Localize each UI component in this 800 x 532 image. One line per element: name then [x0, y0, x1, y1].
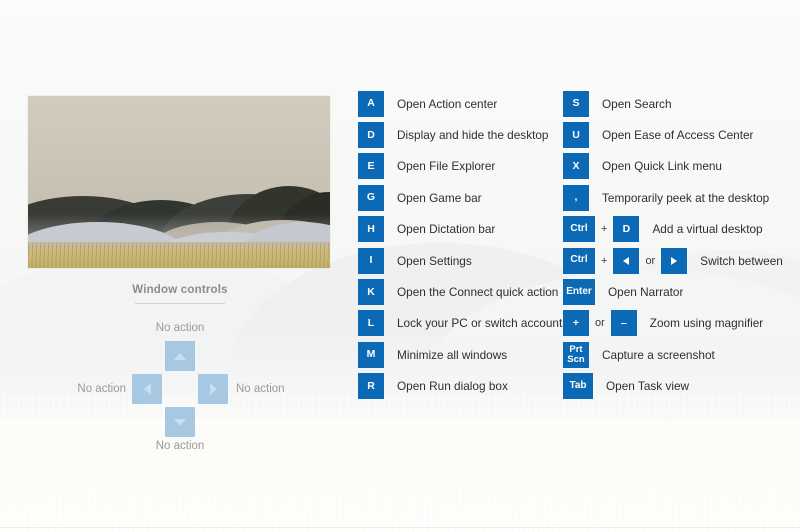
window-controls-panel: Window controls No action No action No a…	[80, 284, 280, 437]
shortcut-description: Open Task view	[606, 379, 689, 393]
shortcut-description: Add a virtual desktop	[652, 222, 762, 236]
shortcut-row: HOpen Dictation bar	[358, 214, 563, 245]
hero-golden-grass	[28, 242, 330, 268]
key-cap-line: Scn	[567, 355, 584, 365]
key-cap[interactable]: H	[358, 216, 384, 242]
shortcut-description: Open Search	[602, 97, 672, 111]
arrow-down-label: No action	[156, 440, 205, 452]
shortcut-description: Open Run dialog box	[397, 379, 508, 393]
arrow-right-key[interactable]	[198, 374, 228, 404]
key-arrow-right-icon[interactable]	[661, 248, 687, 274]
key-cap[interactable]: Enter	[563, 279, 595, 305]
arrow-left-label: No action	[77, 383, 126, 395]
key-cap[interactable]: A	[358, 91, 384, 117]
key-cap[interactable]: Tab	[563, 373, 593, 399]
shortcut-row: GOpen Game bar	[358, 182, 563, 213]
key-cap[interactable]: –	[611, 310, 637, 336]
shortcut-description: Open Game bar	[397, 191, 482, 205]
key-cap[interactable]: ,	[563, 185, 589, 211]
hero-landscape-image	[28, 96, 330, 268]
shortcut-row: EOpen File Explorer	[358, 151, 563, 182]
window-controls-title: Window controls	[80, 284, 280, 296]
key-cap[interactable]: +	[563, 310, 589, 336]
key-cap[interactable]: PrtScn	[563, 342, 589, 368]
arrow-left-key[interactable]	[132, 374, 162, 404]
key-separator-or: or	[645, 255, 655, 267]
key-cap[interactable]: D	[613, 216, 639, 242]
key-cap[interactable]: R	[358, 373, 384, 399]
shortcut-description: Open Narrator	[608, 285, 683, 299]
shortcut-description: Zoom using magnifier	[650, 316, 763, 330]
key-cap[interactable]: S	[563, 91, 589, 117]
shortcut-row: PrtScnCapture a screenshot	[563, 339, 800, 370]
shortcut-row: EnterOpen Narrator	[563, 276, 800, 307]
shortcut-description: Open Settings	[397, 254, 472, 268]
shortcut-description: Open Quick Link menu	[602, 159, 722, 173]
shortcut-description: Open File Explorer	[397, 159, 495, 173]
key-cap[interactable]: I	[358, 248, 384, 274]
key-arrow-left-icon[interactable]	[613, 248, 639, 274]
key-separator-or: or	[595, 317, 605, 329]
shortcut-row: Ctrl+orSwitch between	[563, 245, 800, 276]
window-controls-divider	[135, 303, 225, 304]
shortcut-row: IOpen Settings	[358, 245, 563, 276]
shortcut-row: KOpen the Connect quick action	[358, 276, 563, 307]
shortcut-description: Temporarily peek at the desktop	[602, 191, 769, 205]
arrow-left-icon	[623, 257, 629, 265]
arrow-key-cluster: No action No action No action No action	[80, 309, 280, 437]
shortcut-description: Lock your PC or switch accounts	[397, 316, 563, 330]
shortcut-row: XOpen Quick Link menu	[563, 151, 800, 182]
key-cap[interactable]: Ctrl	[563, 248, 595, 274]
shortcut-row: +or–Zoom using magnifier	[563, 308, 800, 339]
shortcut-row: ,Temporarily peek at the desktop	[563, 182, 800, 213]
shortcut-list-right: SOpen SearchUOpen Ease of Access CenterX…	[563, 88, 800, 402]
shortcut-description: Open the Connect quick action	[397, 285, 558, 299]
key-cap[interactable]: G	[358, 185, 384, 211]
shortcut-description: Display and hide the desktop	[397, 128, 549, 142]
shortcut-row: DDisplay and hide the desktop	[358, 119, 563, 150]
arrow-left-icon	[144, 383, 151, 395]
key-separator-plus: +	[601, 223, 607, 235]
arrow-down-icon	[174, 419, 186, 426]
shortcuts-overlay: Window controls No action No action No a…	[0, 0, 800, 532]
shortcut-row: TabOpen Task view	[563, 371, 800, 402]
key-cap[interactable]: L	[358, 310, 384, 336]
key-separator-plus: +	[601, 255, 607, 267]
shortcut-description: Capture a screenshot	[602, 348, 715, 362]
shortcut-row: SOpen Search	[563, 88, 800, 119]
arrow-right-icon	[210, 383, 217, 395]
shortcut-list-left: AOpen Action centerDDisplay and hide the…	[358, 88, 563, 402]
shortcut-description: Open Ease of Access Center	[602, 128, 753, 142]
shortcut-row: UOpen Ease of Access Center	[563, 119, 800, 150]
arrow-down-key[interactable]	[165, 407, 195, 437]
key-cap[interactable]: Ctrl	[563, 216, 595, 242]
shortcut-description: Open Action center	[397, 97, 497, 111]
shortcut-row: MMinimize all windows	[358, 339, 563, 370]
arrow-up-label: No action	[156, 322, 205, 334]
key-cap[interactable]: D	[358, 122, 384, 148]
shortcut-row: Ctrl+DAdd a virtual desktop	[563, 214, 800, 245]
key-cap[interactable]: K	[358, 279, 384, 305]
arrow-right-icon	[671, 257, 677, 265]
arrow-right-label: No action	[236, 383, 285, 395]
shortcut-description: Minimize all windows	[397, 348, 507, 362]
key-cap[interactable]: M	[358, 342, 384, 368]
key-cap[interactable]: E	[358, 153, 384, 179]
arrow-up-icon	[174, 353, 186, 360]
shortcut-description: Open Dictation bar	[397, 222, 495, 236]
shortcut-description: Switch between	[700, 254, 783, 268]
arrow-up-key[interactable]	[165, 341, 195, 371]
shortcut-row: ROpen Run dialog box	[358, 371, 563, 402]
shortcut-row: AOpen Action center	[358, 88, 563, 119]
shortcut-row: LLock your PC or switch accounts	[358, 308, 563, 339]
key-cap[interactable]: X	[563, 153, 589, 179]
key-cap[interactable]: U	[563, 122, 589, 148]
